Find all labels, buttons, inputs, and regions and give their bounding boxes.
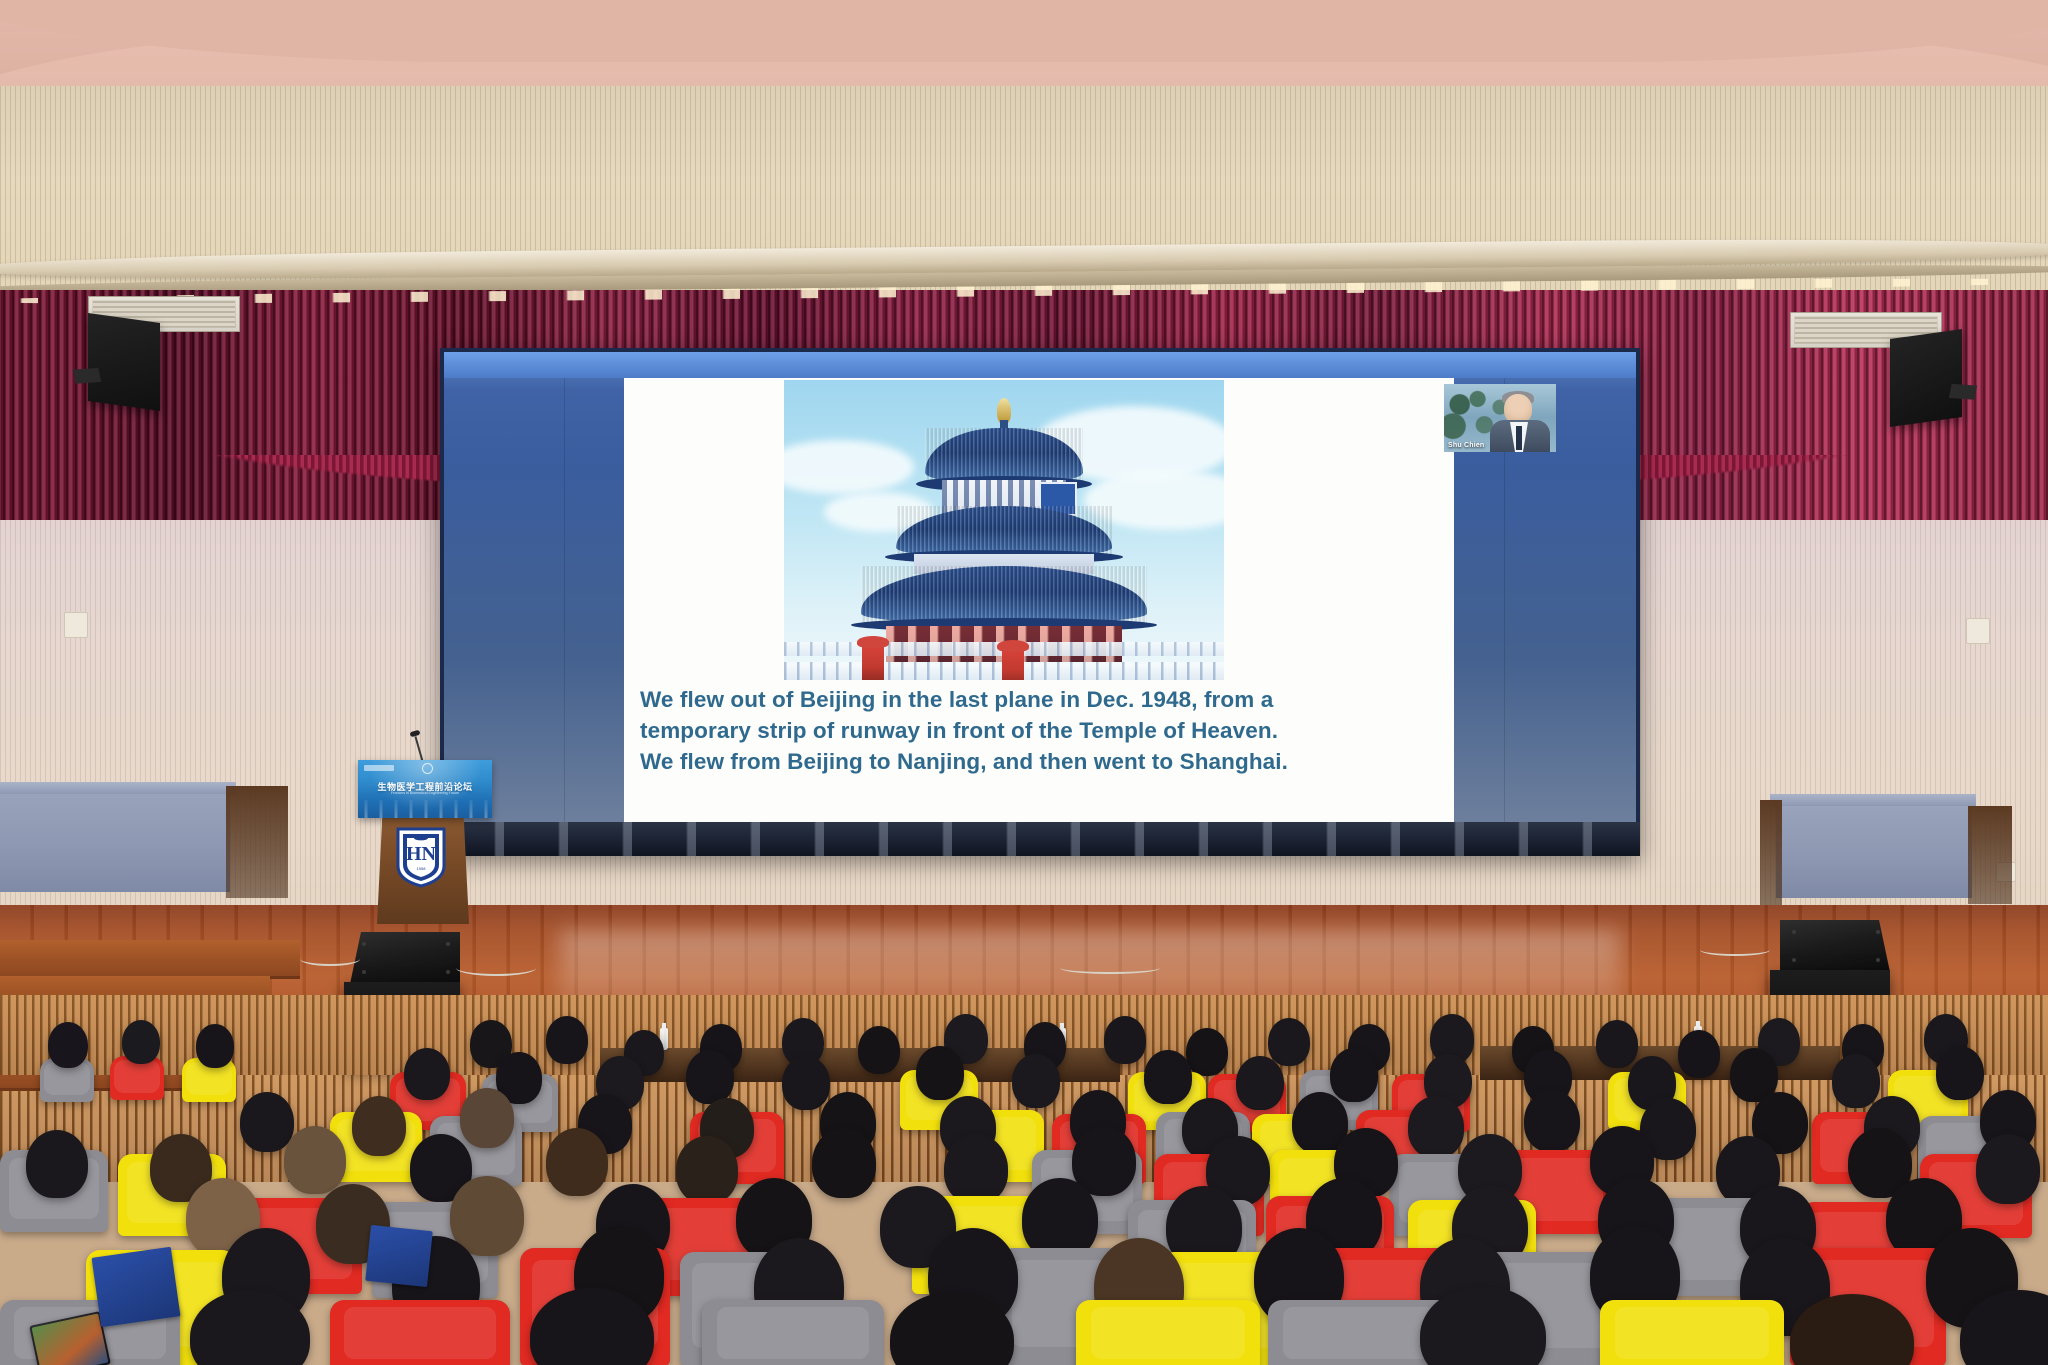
audience-head xyxy=(1524,1090,1580,1152)
audience-head xyxy=(916,1046,964,1100)
seat[interactable] xyxy=(1600,1300,1784,1365)
seat[interactable] xyxy=(1076,1300,1260,1365)
audience-head xyxy=(686,1050,734,1104)
audience-head xyxy=(196,1024,234,1068)
wall-plate-right xyxy=(1966,618,1990,644)
screen-top-band xyxy=(444,352,1636,378)
screen-backdrop: We flew out of Beijing in the last plane… xyxy=(444,352,1636,822)
banner-logo-icon xyxy=(364,765,394,771)
audience-head xyxy=(26,1130,88,1198)
university-emblem: HN 1958 xyxy=(396,826,446,888)
temple-pavilion-left xyxy=(862,644,884,680)
audience-head xyxy=(1268,1018,1310,1066)
slide-caption-text: We flew out of Beijing in the last plane… xyxy=(640,684,1440,777)
wall-speaker-left-icon xyxy=(88,313,160,411)
pip-speaker-figure xyxy=(1490,390,1552,452)
audience-head xyxy=(1236,1056,1284,1110)
stage-monitor-left xyxy=(350,932,460,984)
banner-subtitle: Frontiers in Biomedical Engineering Foru… xyxy=(358,791,492,795)
seat[interactable] xyxy=(702,1300,884,1365)
wall-post-left xyxy=(226,786,288,898)
temple-roof-tier-3 xyxy=(861,566,1147,624)
wainscot-cap-left xyxy=(0,782,236,794)
audience-head xyxy=(284,1126,346,1194)
audience-head xyxy=(858,1026,900,1074)
stage-cable-far-right xyxy=(1700,944,1770,956)
stage-monitor-right xyxy=(1780,920,1890,972)
ceiling-soffit xyxy=(0,0,2048,62)
audience-head xyxy=(944,1134,1008,1204)
wall-plate-left xyxy=(64,612,88,638)
seated-audience xyxy=(0,1000,2048,1365)
stage-cable-mid xyxy=(456,960,536,976)
audience-head xyxy=(122,1020,160,1064)
audience-head xyxy=(546,1128,608,1196)
audience-head xyxy=(1186,1028,1228,1076)
wall-speaker-right-icon xyxy=(1890,329,1962,427)
audience-head xyxy=(1976,1134,2040,1204)
pip-tie xyxy=(1516,426,1522,450)
audience-folder xyxy=(365,1225,433,1287)
audience-head xyxy=(48,1022,88,1068)
remote-speaker-video-inset[interactable]: Shu Chien xyxy=(1444,384,1556,452)
audience-folder xyxy=(92,1247,181,1327)
svg-text:1958: 1958 xyxy=(417,866,427,871)
svg-text:HN: HN xyxy=(406,843,437,865)
audience-head xyxy=(1408,1096,1464,1158)
audience-head xyxy=(404,1048,450,1100)
pip-speaker-name: Shu Chien xyxy=(1448,442,1484,449)
audience-head xyxy=(1678,1030,1720,1078)
screen-bottom-bar xyxy=(440,822,1640,856)
audience-head xyxy=(352,1096,406,1156)
wall-post-right-b xyxy=(1968,806,2012,904)
audience-head xyxy=(782,1056,830,1110)
audience-head xyxy=(1144,1050,1192,1104)
audience-head xyxy=(1330,1048,1378,1102)
audience-head xyxy=(460,1088,514,1148)
podium-banner: 生物医学工程前沿论坛 Frontiers in Biomedical Engin… xyxy=(358,760,492,818)
audience-head xyxy=(240,1092,294,1152)
audience-head xyxy=(1832,1054,1880,1108)
audience-head xyxy=(676,1136,738,1204)
audience-head xyxy=(546,1016,588,1064)
banner-seal-icon xyxy=(422,763,433,774)
audience-head xyxy=(1596,1020,1638,1068)
auditorium-photo: We flew out of Beijing in the last plane… xyxy=(0,0,2048,1365)
audience-head xyxy=(1012,1054,1060,1108)
wainscot-cap-right xyxy=(1770,794,1976,806)
wainscot-panel-right xyxy=(1776,802,1972,898)
audience-head xyxy=(1936,1046,1984,1100)
wainscot-panel-left xyxy=(0,790,230,892)
temple-of-heaven-photo xyxy=(784,380,1224,680)
temple-pavilion-right xyxy=(1002,648,1024,680)
presentation-slide: We flew out of Beijing in the last plane… xyxy=(624,378,1454,822)
wall-post-right-a xyxy=(1760,800,1782,910)
stage-cable-left xyxy=(300,952,360,966)
led-presentation-screen[interactable]: We flew out of Beijing in the last plane… xyxy=(440,348,1640,856)
audience-head xyxy=(1104,1016,1146,1064)
audience-head xyxy=(812,1128,876,1198)
stage-cable-right xyxy=(1060,962,1160,974)
seat[interactable] xyxy=(330,1300,510,1365)
banner-skyline-graphic xyxy=(358,800,492,818)
